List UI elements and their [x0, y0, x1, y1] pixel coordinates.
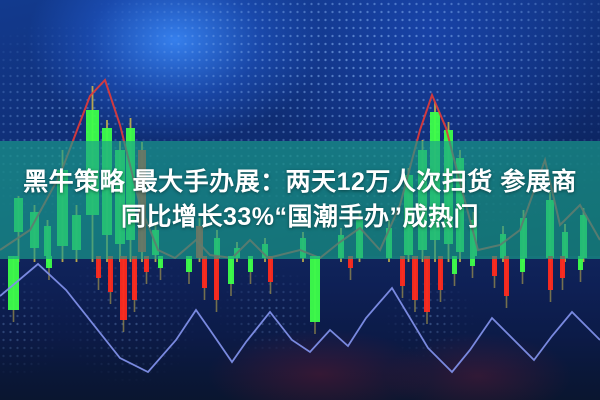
headline-line-2: 同比增长33%“国潮手办”成热门	[121, 203, 479, 233]
lower-zigzag-line	[0, 264, 600, 372]
headline-line-1: 黑牛策略 最大手办展：两天12万人次扫货 参展商	[23, 168, 577, 198]
headline-block: 黑牛策略 最大手办展：两天12万人次扫货 参展商 同比增长33%“国潮手办”成热…	[0, 141, 600, 259]
news-thumbnail-image: 黑牛策略 最大手办展：两天12万人次扫货 参展商 同比增长33%“国潮手办”成热…	[0, 0, 600, 400]
